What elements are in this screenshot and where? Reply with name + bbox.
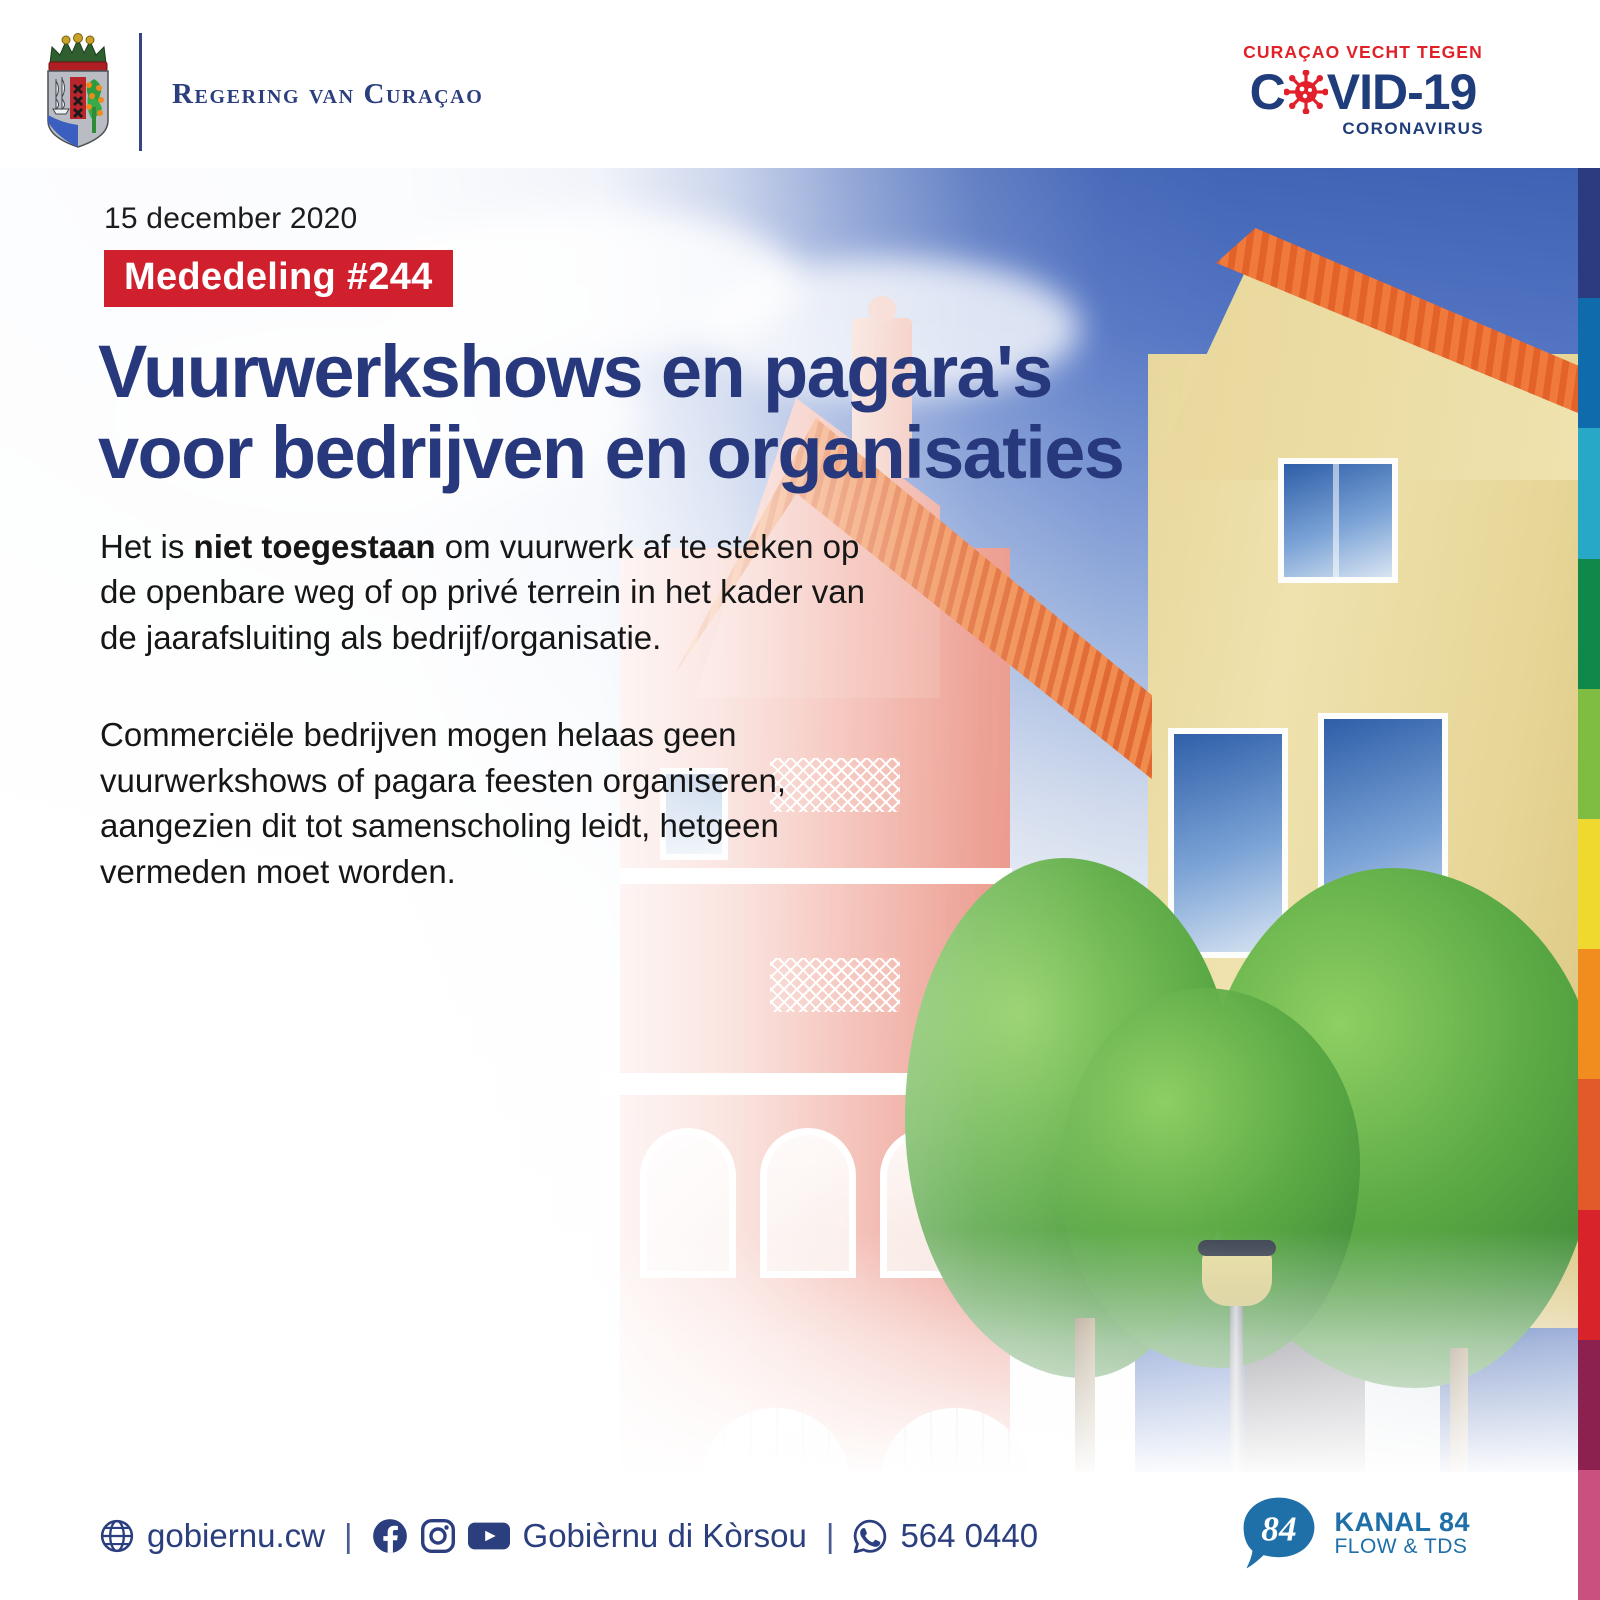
covid-letters-vid19: VID-19 <box>1327 67 1477 117</box>
social-handle[interactable]: Gobièrnu di Kòrsou <box>523 1517 807 1555</box>
paragraph1-pre: Het is <box>100 528 194 565</box>
page-footer: gobiernu.cw | <box>0 1472 1578 1600</box>
rainbow-band-8 <box>1578 1210 1600 1340</box>
rainbow-band-2 <box>1578 428 1600 558</box>
government-title: Regering van Curaçao <box>172 78 483 111</box>
publication-date: 15 december 2020 <box>104 202 1600 236</box>
street-lamp-cap <box>1198 1240 1276 1256</box>
street-lamp-pole <box>1230 1298 1243 1472</box>
announcement-content: 15 december 2020 Mededeling #244 Vuurwer… <box>0 168 1600 895</box>
tree-trunk <box>1450 1348 1468 1472</box>
announcement-poster: Regering van Curaçao CURAÇAO VECHT TEGEN… <box>0 0 1600 1600</box>
street-lamp-head <box>1202 1250 1272 1306</box>
rainbow-band-7 <box>1578 1079 1600 1209</box>
covid19-logo: CURAÇAO VECHT TEGEN C <box>1238 44 1488 140</box>
covid-tagline: CURAÇAO VECHT TEGEN <box>1238 44 1488 62</box>
kanal-84-line2: FLOW & TDS <box>1334 1536 1470 1558</box>
footer-contact-row: gobiernu.cw | <box>100 1517 1038 1555</box>
body-paragraph-2: Commerciële bedrijven mogen helaas geen … <box>100 712 900 894</box>
globe-icon <box>100 1519 134 1553</box>
coat-of-arms-icon <box>42 33 114 151</box>
svg-text:84: 84 <box>1262 1508 1297 1548</box>
footer-separator-2: | <box>826 1517 835 1555</box>
instagram-icon[interactable] <box>421 1519 455 1553</box>
covid-subtitle: CORONAVIRUS <box>1238 119 1488 139</box>
rainbow-band-4 <box>1578 689 1600 819</box>
rainbow-band-5 <box>1578 819 1600 949</box>
page-header: Regering van Curaçao CURAÇAO VECHT TEGEN… <box>0 0 1600 168</box>
facebook-icon[interactable] <box>372 1518 408 1554</box>
page-title: Vuurwerkshows en pagara's voor bedrijven… <box>98 331 1198 494</box>
whatsapp-icon[interactable] <box>853 1519 887 1553</box>
youtube-icon[interactable] <box>468 1520 510 1552</box>
arched-opening <box>760 1128 856 1278</box>
rainbow-strip-right <box>1578 168 1600 1600</box>
kanal-84-line1: KANAL 84 <box>1334 1508 1470 1536</box>
kanal-84-logo: 84 KANAL 84 FLOW & TDS <box>1238 1492 1470 1574</box>
balustrade-lattice <box>770 958 900 1012</box>
footer-separator-1: | <box>344 1517 353 1555</box>
website-label[interactable]: gobiernu.cw <box>147 1517 325 1555</box>
announcement-badge: Mededeling #244 <box>104 250 453 307</box>
tree-trunk <box>1075 1318 1095 1472</box>
kanal-84-badge-icon: 84 <box>1238 1492 1320 1574</box>
arched-opening <box>640 1128 736 1278</box>
phone-number[interactable]: 564 0440 <box>900 1517 1038 1555</box>
rainbow-band-6 <box>1578 949 1600 1079</box>
covid-wordmark: C <box>1238 67 1488 117</box>
body-paragraph-1: Het is niet toegestaan om vuurwerk af te… <box>100 524 900 661</box>
paragraph1-emphasis: niet toegestaan <box>194 528 436 565</box>
rainbow-band-9 <box>1578 1340 1600 1470</box>
rainbow-band-3 <box>1578 559 1600 689</box>
coronavirus-icon <box>1284 70 1328 114</box>
kanal-84-text: KANAL 84 FLOW & TDS <box>1334 1508 1470 1558</box>
rainbow-band-1 <box>1578 298 1600 428</box>
rainbow-band-0 <box>1578 168 1600 298</box>
rainbow-band-10 <box>1578 1470 1600 1600</box>
covid-letter-c: C <box>1250 67 1285 117</box>
header-divider <box>139 33 142 151</box>
